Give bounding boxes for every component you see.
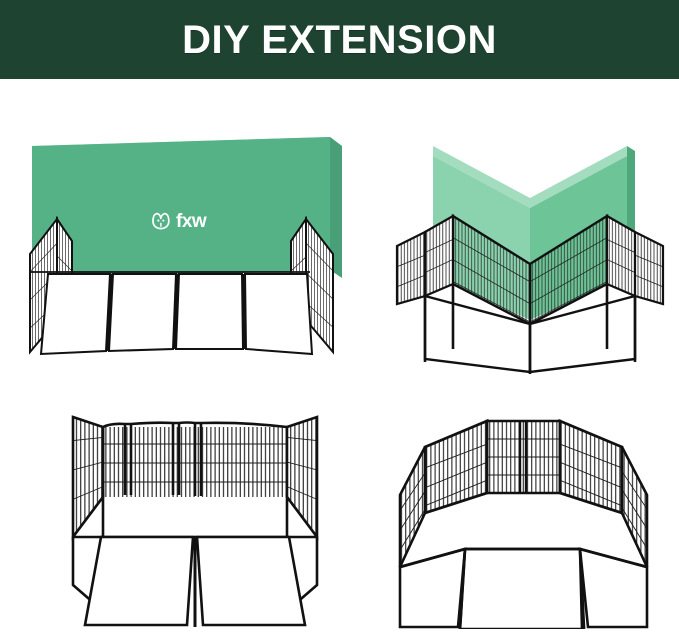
octagon-panel-east <box>619 443 651 573</box>
panel-rectangle-pen <box>45 389 345 629</box>
octagon-panel-northwest <box>422 417 490 517</box>
pen-front-panel-1 <box>41 274 110 354</box>
pen-front-panel-2 <box>109 274 176 351</box>
octagon-panel-south <box>460 549 582 629</box>
panel-grid: fxw <box>0 79 679 638</box>
infographic-page: DIY EXTENSION <box>0 0 679 638</box>
page-title: DIY EXTENSION <box>182 20 497 60</box>
octagon-panel-northeast <box>557 417 625 517</box>
pen-corner-wing-right <box>632 228 666 310</box>
pen-front-panel-4 <box>245 274 312 354</box>
panel-octagon-pen <box>370 389 675 629</box>
octagon-panel-west <box>397 443 429 573</box>
octagon-front-panels <box>400 549 647 629</box>
panel-corner-wall-extension <box>390 124 670 374</box>
octagon-panel-southeast <box>580 549 647 627</box>
pen-corner-panel-far-left <box>422 212 456 302</box>
header-banner: DIY EXTENSION <box>0 0 679 79</box>
pen-back-panels <box>101 423 289 500</box>
fxw-logo-text: fxw <box>176 211 207 232</box>
wall-front-face <box>32 137 330 280</box>
pen-front-panel-3 <box>176 274 243 349</box>
octagon-panel-north <box>485 419 562 495</box>
octagon-panel-southwest <box>400 549 465 627</box>
panel-straight-wall-extension: fxw <box>10 124 355 374</box>
